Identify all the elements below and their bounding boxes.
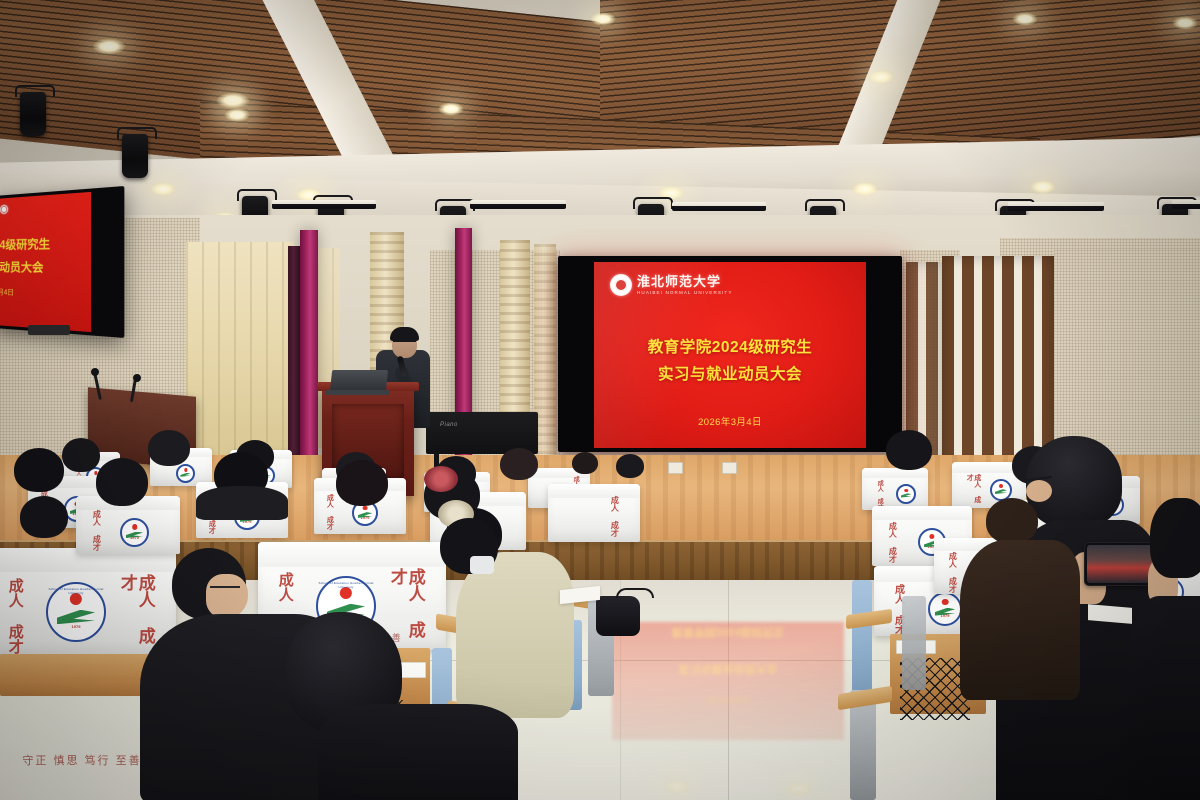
curtain-magenta-left: [300, 230, 318, 460]
seat[interactable]: 成人 成才: [548, 484, 640, 542]
piano-brand-label: Piano: [440, 422, 458, 428]
ceiling-light-bar: [470, 200, 566, 209]
emblem-year: 1979: [354, 515, 376, 520]
downlight: [1030, 180, 1056, 194]
attendee-head: [14, 448, 64, 492]
stage-light: [20, 92, 46, 136]
seat-cover: 成人 成才: [548, 484, 640, 542]
tv-wall-mount: [28, 325, 70, 335]
hair-scrunchie: [424, 466, 458, 492]
seat-cover: School of Education Huaibei Normal Unive…: [0, 548, 176, 654]
downlight: [92, 38, 126, 55]
college-emblem-icon: [896, 484, 916, 504]
college-emblem-icon: 1979: [928, 592, 962, 626]
bag-on-floor: [596, 596, 640, 636]
attendee-head: [336, 460, 388, 506]
seat-calligraphy: 成人 成才: [948, 552, 956, 593]
downlight: [590, 12, 616, 26]
ceiling-light-bar: [1008, 202, 1104, 211]
eyeglasses-icon: [210, 586, 240, 591]
emblem-ring-text: School of Education Huaibei Normal Unive…: [318, 581, 374, 589]
attendee-head: [986, 498, 1038, 544]
ceiling-light-bar: [1172, 200, 1200, 209]
microphone-head-icon: [91, 368, 99, 376]
attendee-face: [206, 574, 248, 618]
attendee-head: [1150, 498, 1200, 578]
eyeglasses-icon: [393, 341, 416, 346]
slide-surface: 淮北师范大学 HUAIBEI NORMAL UNIVERSITY 教育学院202…: [594, 262, 866, 448]
attendee-shoulders: [456, 552, 574, 718]
university-name-en: HUAIBEI NORMAL UNIVERSITY: [637, 290, 732, 296]
downlight: [150, 182, 176, 196]
ceiling-light-bar: [672, 202, 766, 211]
university-logo: 淮北师范大学 HUAIBEI NORMAL UNIVERSITY: [610, 274, 732, 296]
attendee-head: [148, 430, 190, 466]
downlight: [438, 102, 464, 116]
attendee-head: [20, 496, 68, 538]
curtain-cream-left: [186, 242, 294, 458]
wall-socket: [722, 462, 737, 474]
downlight: [852, 182, 878, 196]
attendee-shoulders: [196, 486, 288, 520]
seat[interactable]: 成人 成才: [862, 468, 928, 510]
smartphone-screen: [1087, 545, 1153, 583]
slide-title: 教育学院2024级研究生 实习与就业动员大会: [594, 334, 866, 388]
slide-date: 2026年3月4日: [594, 414, 866, 428]
slide-title-line-1: 教育学院2024级研究生: [594, 334, 866, 361]
attendee-head: [96, 458, 148, 506]
downlight: [1012, 12, 1038, 26]
emblem-year: 1979: [930, 613, 960, 618]
attendee-head: [572, 452, 598, 474]
tv-university-seal-icon: [0, 203, 10, 216]
emblem-ring-text: School of Education Huaibei Normal Unive…: [48, 587, 104, 595]
reflection-title-line-2: 实习与就业动员大会: [612, 659, 844, 696]
tv-title-line-2: 就业动员大会: [0, 259, 43, 276]
smartphone[interactable]: [1084, 542, 1156, 586]
seat-calligraphy: 成人 成才: [610, 496, 618, 537]
downlight: [868, 70, 894, 84]
seat-calligraphy: 成人 成才: [966, 474, 981, 508]
college-emblem-icon: [176, 464, 195, 483]
college-emblem-icon: 1979: [120, 518, 149, 547]
side-display-tv: 2024级研究生 就业动员大会 6年3月4日: [0, 186, 124, 338]
tv-date: 6年3月4日: [0, 287, 14, 298]
downlight: [216, 92, 250, 109]
attendee-shoulders: [960, 540, 1080, 700]
slide-title-line-2: 实习与就业动员大会: [594, 361, 866, 388]
face-mask: [470, 556, 494, 574]
seat-calligraphy: 成人 成才: [6, 578, 22, 654]
attendee-head: [500, 448, 538, 480]
reflection-title-line-1: 教育学院2024级研究生: [612, 622, 844, 659]
attendee-head: [616, 454, 644, 478]
auditorium-photo: 2024级研究生 就业动员大会 6年3月4日 淮北师范大学 HUAIBEI NO…: [0, 0, 1200, 800]
seat[interactable]: School of Education Huaibei Normal Unive…: [0, 548, 176, 654]
downlight: [1172, 16, 1198, 30]
screen-reflection-on-floor: 教育学院2024级研究生 实习与就业动员大会 2026年3月4日: [612, 622, 844, 740]
seat-calligraphy: 成人 成才: [326, 494, 333, 530]
seat-calligraphy: 成人 成才: [892, 584, 903, 635]
ceiling-light-bar: [272, 200, 376, 209]
floor-light-reflection: [664, 780, 690, 794]
attendee-shoulders: [318, 704, 518, 800]
seat-calligraphy: 成人 成才: [888, 522, 896, 563]
seat-calligraphy: 成人 成才: [92, 510, 100, 551]
wall-socket: [668, 462, 683, 474]
main-led-screen: 淮北师范大学 HUAIBEI NORMAL UNIVERSITY 教育学院202…: [558, 256, 902, 452]
wood-slat-panel-right: [942, 256, 1054, 468]
university-name-cn: 淮北师范大学: [637, 275, 732, 289]
side-display-content: 2024级研究生 就业动员大会 6年3月4日: [0, 192, 91, 332]
seat-cover: 成人 成才: [862, 468, 928, 510]
emblem-year: 1979: [122, 535, 147, 540]
floor-light-reflection: [786, 782, 812, 796]
attendee-shoulders: [1128, 596, 1200, 800]
microphone-head-icon: [133, 374, 141, 382]
tv-title-line-1: 2024级研究生: [0, 235, 50, 253]
seat-side-panel: [902, 596, 926, 690]
laptop-on-podium: [330, 370, 388, 392]
emblem-year: 1979: [48, 624, 104, 629]
bag-strap: [616, 588, 654, 598]
seat-calligraphy-right: 成人 成才: [118, 574, 154, 654]
college-emblem-icon: School of Education Huaibei Normal Unive…: [46, 582, 106, 642]
stage-light: [122, 134, 148, 178]
university-seal-icon: [610, 274, 632, 296]
downlight: [224, 108, 250, 122]
attendee-head: [62, 438, 100, 472]
speaker-hair: [390, 327, 419, 341]
attendee-head: [886, 430, 932, 470]
reflection-date: 2026年3月4日: [612, 695, 844, 705]
